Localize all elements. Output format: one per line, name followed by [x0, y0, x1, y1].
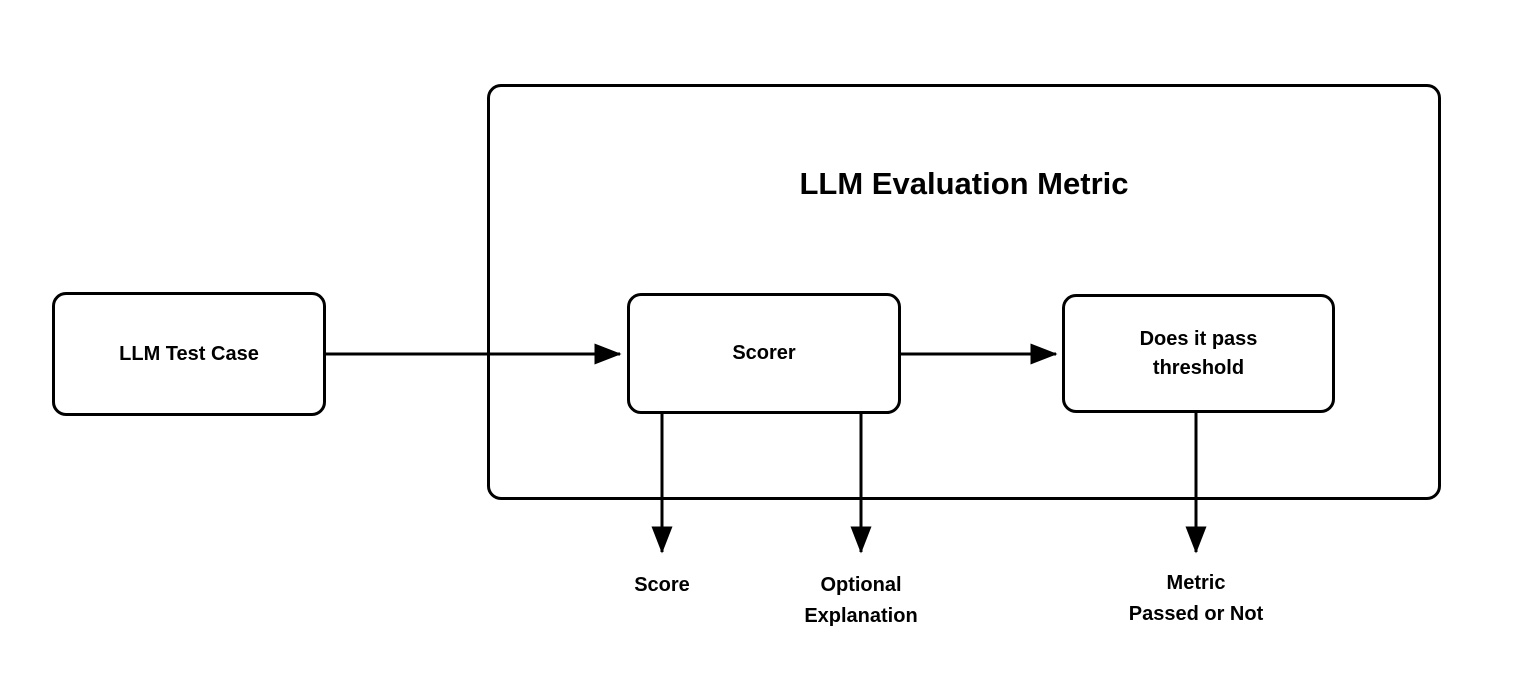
node-does-it-pass-threshold-label: Does it pass threshold [1130, 325, 1268, 383]
llm-evaluation-metric-container [487, 84, 1441, 500]
node-does-it-pass-threshold[interactable]: Does it pass threshold [1062, 294, 1335, 413]
output-label-optional-explanation: Optional Explanation [761, 570, 961, 632]
output-label-metric-passed-or-not: Metric Passed or Not [1096, 568, 1296, 630]
diagram-canvas: LLM Evaluation Metric LLM Test Case Scor… [0, 0, 1523, 684]
container-title: LLM Evaluation Metric [487, 166, 1441, 202]
node-llm-test-case-label: LLM Test Case [109, 340, 269, 369]
node-scorer[interactable]: Scorer [627, 293, 901, 414]
node-scorer-label: Scorer [722, 339, 805, 368]
node-llm-test-case[interactable]: LLM Test Case [52, 292, 326, 416]
output-label-score: Score [562, 570, 762, 601]
